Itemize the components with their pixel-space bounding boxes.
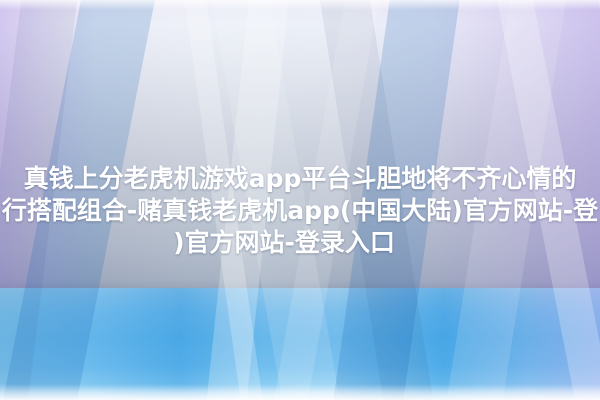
bottom-glow (0, 384, 600, 400)
banner-headline: 真钱上分老虎机游戏app平台斗胆地将不齐心情的 行搭配组合-赌真钱老虎机app(… (0, 163, 600, 259)
headline-line-1: 真钱上分老虎机游戏app平台斗胆地将不齐心情的 (0, 163, 600, 195)
headline-line-2: 行搭配组合-赌真钱老虎机app(中国大陆)官方网站-登 (0, 195, 600, 227)
headline-line-3: )官方网站-登录入口 (0, 227, 600, 259)
promo-banner: 真钱上分老虎机游戏app平台斗胆地将不齐心情的 行搭配组合-赌真钱老虎机app(… (0, 0, 600, 400)
top-sheen (0, 0, 600, 10)
